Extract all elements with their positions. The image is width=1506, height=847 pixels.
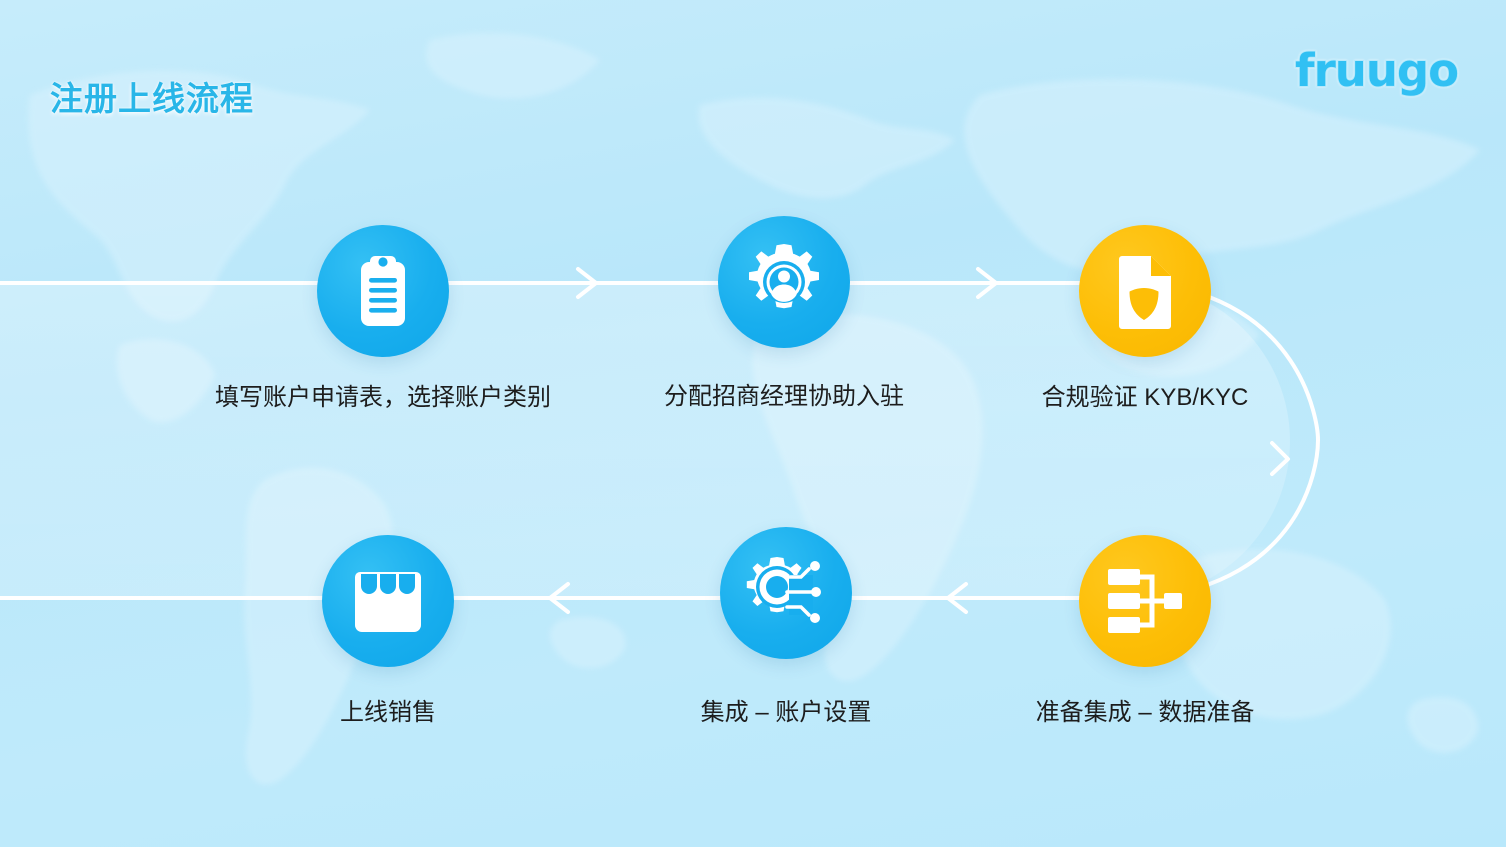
clipboard-form-icon: [349, 254, 417, 328]
chevron-down-right-icon: [1272, 443, 1288, 474]
step-1-label: 填写账户申请表，选择账户类别: [215, 377, 551, 412]
document-shield-icon: [1113, 252, 1177, 330]
step-6-label: 上线销售: [340, 692, 436, 727]
step-4-label: 准备集成 – 数据准备: [1036, 692, 1255, 727]
step-2-circle[interactable]: [718, 216, 850, 348]
flow-step-6[interactable]: 上线销售: [322, 535, 454, 667]
flow-step-2[interactable]: 分配招商经理协助入驻: [718, 216, 850, 348]
step-5-circle[interactable]: [720, 527, 852, 659]
step-6-circle[interactable]: [322, 535, 454, 667]
step-2-label: 分配招商经理协助入驻: [664, 376, 904, 411]
gear-user-icon: [744, 242, 824, 322]
step-3-circle[interactable]: [1079, 225, 1211, 357]
flow-step-3[interactable]: 合规验证 KYB/KYC: [1079, 225, 1211, 357]
flow-step-1[interactable]: 填写账户申请表，选择账户类别: [317, 225, 449, 357]
storefront-icon: [353, 568, 423, 634]
step-5-label: 集成 – 账户设置: [701, 692, 872, 727]
step-4-circle[interactable]: [1079, 535, 1211, 667]
flow-step-4[interactable]: 准备集成 – 数据准备: [1079, 535, 1211, 667]
flow-step-5[interactable]: 集成 – 账户设置: [720, 527, 852, 659]
step-3-label: 合规验证 KYB/KYC: [1042, 377, 1249, 412]
data-flow-diagram-icon: [1106, 567, 1184, 635]
step-1-circle[interactable]: [317, 225, 449, 357]
gear-circuit-icon: [745, 555, 827, 631]
